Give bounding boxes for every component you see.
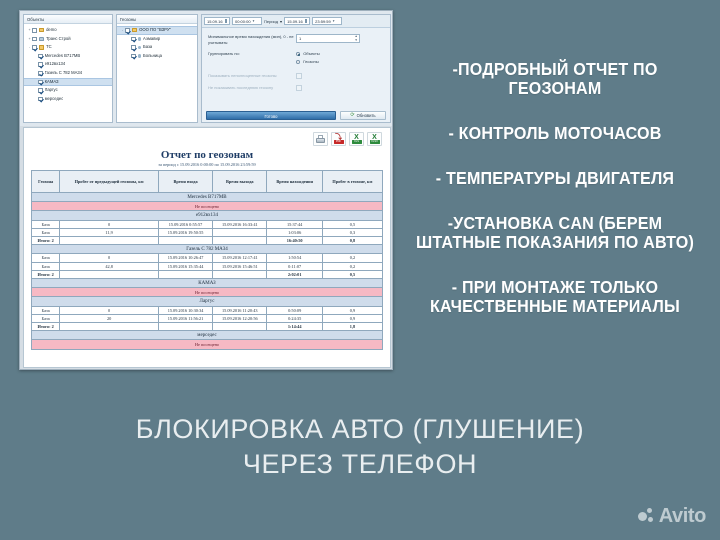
report-cell-3: 15.09.2016 11:20:43: [213, 306, 267, 314]
report-total-cell-0: Итого: 2: [32, 270, 60, 278]
promo-bottom-line-1: БЛОКИРОВКА АВТО (ГЛУШЕНИЕ): [0, 412, 720, 447]
promo-bottom-line-2: ЧЕРЕЗ ТЕЛЕФОН: [0, 447, 720, 482]
report-total-row: Итого: 22:02:010,5: [32, 270, 383, 278]
report-total-cell-4: 2:02:01: [267, 270, 322, 278]
report-cell-1: 0: [60, 220, 159, 228]
checkbox-icon[interactable]: [38, 88, 43, 93]
geozone-node-0[interactable]: -ООО ПО "ВЗРУ": [117, 26, 197, 35]
car-icon: [39, 37, 45, 41]
time-from-value: 00:00:00: [235, 18, 251, 25]
report-cell-4: 0:50:09: [267, 306, 322, 314]
xlsx-tag: XLSX: [370, 140, 380, 144]
selection-area: Объекты +demo+Транс Строй-ТСMercedes В71…: [20, 11, 393, 126]
report-cell-1: 20: [60, 314, 159, 322]
time-from-input[interactable]: 00:00:00 ▾: [232, 17, 262, 25]
checkbox-icon[interactable]: [38, 54, 43, 59]
report-total-cell-4: 16:40:50: [267, 237, 322, 245]
report-cell-0: База: [32, 314, 60, 322]
report-cell-4: 0:24:35: [267, 314, 322, 322]
promo-line-0: -ПОДРОБНЫЙ ОТЧЕТ ПО ГЕОЗОНАМ: [412, 60, 697, 98]
report-cell-1: 0: [60, 306, 159, 314]
report-total-cell-2: [158, 237, 212, 245]
disabled-option-2-checkbox: [296, 85, 302, 91]
report-group-name: Ларгус: [32, 297, 383, 306]
report-total-cell-0: Итого: 2: [32, 323, 60, 331]
report-group-row: мерседес: [32, 331, 383, 340]
object-node-4[interactable]: е912вх134: [24, 60, 112, 69]
table-row: База015.09.2016 10:26:4715.09.2016 12:17…: [32, 254, 383, 262]
report-cell-5: 0,3: [322, 228, 382, 236]
object-node-7[interactable]: Ларгус: [24, 86, 112, 95]
geozones-panel: Геозоны -ООО ПО "ВЗРУ"АэмавирБазаБольниц…: [116, 14, 198, 123]
refresh-button-label: Обновить: [357, 111, 376, 121]
table-row: База2015.09.2016 11:56:2115.09.2016 12:2…: [32, 314, 383, 322]
objects-panel-header: Объекты: [24, 15, 112, 24]
radio-objects-icon[interactable]: [296, 52, 300, 56]
objects-tree[interactable]: +demo+Транс Строй-ТСMercedes В717МВе912в…: [24, 24, 112, 103]
refresh-icon: ⟳: [350, 111, 354, 121]
avito-logo-icon: [638, 508, 655, 525]
report-cell-0: База: [32, 306, 60, 314]
options-button-row: Готово ⟳ Обновить: [202, 111, 390, 121]
report-total-cell-5: 1,8: [322, 323, 382, 331]
table-row: База42,815.09.2016 15:35:4415.09.2016 15…: [32, 262, 383, 270]
min-time-label: Минимальное время нахождения (мин), 0 - …: [208, 34, 296, 45]
report-column-header-2: Время входа: [158, 171, 212, 193]
object-node-label: мерседес: [45, 95, 64, 104]
xls-tag: XLS: [352, 140, 362, 144]
min-time-input[interactable]: 1 ▴▾: [296, 34, 360, 43]
geozones-tree[interactable]: -ООО ПО "ВЗРУ"АэмавирБазаБольница: [117, 24, 197, 60]
report-group-row: Ларгус: [32, 297, 383, 306]
report-cell-2: 15.09.2016 10:26:47: [158, 254, 212, 262]
radio-geozones[interactable]: Геозоны: [296, 59, 320, 64]
report-total-cell-1: [60, 323, 159, 331]
object-node-label: Транс Строй: [46, 35, 71, 44]
report-empty-text: Не посещено: [32, 340, 383, 349]
report-empty-text: Не посещено: [32, 288, 383, 297]
checkbox-icon[interactable]: [131, 45, 136, 50]
calendar-icon[interactable]: [225, 19, 227, 23]
disabled-option-2-label: Не показывать последнюю геозону: [208, 85, 296, 91]
disabled-option-1-row: Показывать неполноценные геозоны: [208, 73, 384, 79]
report-cell-5: 0,9: [322, 306, 382, 314]
disabled-option-2-row: Не показывать последнюю геозону: [208, 85, 384, 91]
min-time-row: Минимальное время нахождения (мин), 0 - …: [208, 34, 384, 45]
checkbox-icon[interactable]: [38, 80, 43, 85]
promo-line-2: - ТЕМПЕРАТУРЫ ДВИГАТЕЛЯ: [412, 169, 697, 188]
geozone-node-2[interactable]: База: [117, 43, 197, 52]
object-node-label: КАМАЗ: [45, 78, 59, 87]
report-options-panel: 15.09.16 00:00:00 ▾ Период ▾ 15.09.16 23…: [201, 14, 391, 123]
date-from-input[interactable]: 15.09.16: [204, 17, 230, 25]
report-cell-0: База: [32, 262, 60, 270]
report-group-name: КАМАЗ: [32, 279, 383, 288]
report-empty-row: Не посещено: [32, 202, 383, 211]
calendar-icon-2[interactable]: [305, 19, 307, 23]
report-cell-1: 0: [60, 254, 159, 262]
execute-report-button[interactable]: Готово: [206, 111, 336, 121]
object-node-label: е912вх134: [45, 60, 66, 69]
report-cell-1: 42,8: [60, 262, 159, 270]
report-group-row: Mercedes В717МВ: [32, 193, 383, 202]
report-table-body: Mercedes В717МВНе посещеное912вх134База0…: [32, 193, 383, 350]
report-cell-4: 0:11:07: [267, 262, 322, 270]
object-node-label: ТС: [46, 43, 52, 52]
report-cell-5: 0,5: [322, 220, 382, 228]
geozone-node-1[interactable]: Аэмавир: [117, 35, 197, 44]
group-by-radios[interactable]: Объекты Геозоны: [296, 51, 320, 67]
report-group-name: мерседес: [32, 331, 383, 340]
xlsx-icon[interactable]: X XLSX: [367, 132, 382, 146]
report-subtitle: за период с 15.09.2016 0:00:00 по 15.09.…: [24, 162, 390, 167]
checkbox-icon[interactable]: [32, 37, 37, 42]
disabled-option-1-checkbox: [296, 73, 302, 79]
time-to-value: 23:59:59: [315, 18, 331, 25]
report-total-cell-2: [158, 270, 212, 278]
object-node-1[interactable]: +Транс Строй: [24, 35, 112, 44]
report-cell-4: 15:37:44: [267, 220, 322, 228]
object-node-label: Газель С 782 МА34: [45, 69, 82, 78]
print-icon[interactable]: [313, 132, 328, 146]
object-node-3[interactable]: Mercedes В717МВ: [24, 52, 112, 61]
checkbox-icon[interactable]: [125, 28, 130, 33]
report-cell-3: [213, 228, 267, 236]
refresh-button[interactable]: ⟳ Обновить: [340, 111, 386, 121]
avito-watermark-label: Avito: [659, 505, 706, 528]
group-by-label: Группировать по:: [208, 51, 296, 57]
table-row: База015.09.2016 10:30:3415.09.2016 11:20…: [32, 306, 383, 314]
report-cell-3: 15.09.2016 12:20:56: [213, 314, 267, 322]
object-node-0[interactable]: +demo: [24, 26, 112, 35]
geozone-node-label: Аэмавир: [143, 35, 160, 44]
radio-objects-label: Объекты: [303, 51, 320, 56]
report-cell-3: 15.09.2016 12:17:41: [213, 254, 267, 262]
date-from-value: 15.09.16: [207, 18, 223, 25]
chevron-down-icon-2[interactable]: ▾: [333, 18, 335, 25]
print-body-shape: [316, 138, 325, 143]
radio-objects[interactable]: Объекты: [296, 51, 320, 56]
report-column-header-4: Время нахождения: [267, 171, 322, 193]
promo-line-1: - КОНТРОЛЬ МОТОЧАСОВ: [412, 124, 697, 143]
folder-icon: [132, 28, 138, 32]
disabled-option-1-label: Показывать неполноценные геозоны: [208, 73, 296, 79]
report-column-header-3: Время выхода: [213, 171, 267, 193]
date-range-toolbar: 15.09.16 00:00:00 ▾ Период ▾ 15.09.16 23…: [202, 15, 390, 28]
report-total-cell-3: [213, 237, 267, 245]
object-node-6[interactable]: КАМАЗ: [24, 78, 112, 87]
report-group-row: Газель С 782 МА34: [32, 245, 383, 254]
object-node-label: Mercedes В717МВ: [45, 52, 81, 61]
report-cell-0: База: [32, 220, 60, 228]
report-cell-4: 1:03:06: [267, 228, 322, 236]
geozone-node-label: База: [143, 43, 152, 52]
xls-icon[interactable]: X XLS: [349, 132, 364, 146]
report-cell-0: База: [32, 228, 60, 236]
report-cell-3: 15.09.2016 15:46:51: [213, 262, 267, 270]
period-label: Период: [264, 19, 278, 24]
checkbox-icon[interactable]: [32, 28, 37, 33]
report-column-header-5: Пробег в геозоне, км: [322, 171, 382, 193]
report-total-cell-5: 0,8: [322, 237, 382, 245]
object-node-label: demo: [46, 26, 56, 35]
table-row: База11,915.09.2016 19:50:551:03:060,3: [32, 228, 383, 236]
table-row: База015.09.2016 0:55:5715.09.2016 16:33:…: [32, 220, 383, 228]
object-node-2[interactable]: -ТС: [24, 43, 112, 52]
checkbox-icon[interactable]: [38, 97, 43, 102]
object-node-label: Ларгус: [45, 86, 58, 95]
report-header-row: ГеозонаПробег от предыдущей геозоны, кмВ…: [32, 171, 383, 193]
chevron-down-icon[interactable]: ▾: [253, 18, 255, 25]
group-by-row: Группировать по: Объекты Геозоны: [208, 51, 384, 67]
object-node-8[interactable]: мерседес: [24, 95, 112, 104]
radio-geozones-label: Геозоны: [303, 59, 318, 64]
report-cell-2: 15.09.2016 15:35:44: [158, 262, 212, 270]
report-total-cell-2: [158, 323, 212, 331]
report-cell-5: 0,2: [322, 254, 382, 262]
options-body: Минимальное время нахождения (мин), 0 - …: [202, 28, 390, 91]
report-empty-row: Не посещено: [32, 340, 383, 349]
checkbox-icon[interactable]: [38, 62, 43, 67]
date-to-value: 15.09.16: [287, 18, 303, 25]
report-group-name: Газель С 782 МА34: [32, 245, 383, 254]
report-total-cell-3: [213, 323, 267, 331]
report-group-name: е912вх134: [32, 211, 383, 220]
report-cell-2: 15.09.2016 0:55:57: [158, 220, 212, 228]
report-total-cell-1: [60, 270, 159, 278]
dot-icon: [138, 46, 141, 49]
report-panel: ⤵ PDF X XLS X XLSX Отчет по геозонам за …: [23, 127, 391, 368]
report-cell-5: 0,9: [322, 314, 382, 322]
report-total-cell-0: Итого: 2: [32, 237, 60, 245]
export-toolbar: ⤵ PDF X XLS X XLSX: [24, 128, 390, 146]
report-table: ГеозонаПробег от предыдущей геозоны, кмВ…: [31, 170, 383, 350]
promo-line-4: - ПРИ МОНТАЖЕ ТОЛЬКО КАЧЕСТВЕННЫЕ МАТЕРИ…: [412, 278, 697, 316]
promo-feature-list: -ПОДРОБНЫЙ ОТЧЕТ ПО ГЕОЗОНАМ- КОНТРОЛЬ М…: [400, 60, 710, 316]
report-table-head: ГеозонаПробег от предыдущей геозоны, кмВ…: [32, 171, 383, 193]
dot-icon: [138, 37, 141, 40]
pdf-icon[interactable]: ⤵ PDF: [331, 132, 346, 146]
date-to-input[interactable]: 15.09.16: [284, 17, 310, 25]
folder-icon: [39, 45, 45, 49]
report-cell-2: 15.09.2016 11:56:21: [158, 314, 212, 322]
report-group-row: КАМАЗ: [32, 279, 383, 288]
geozones-panel-header: Геозоны: [117, 15, 197, 24]
report-title: Отчет по геозонам: [24, 149, 390, 161]
report-cell-2: 15.09.2016 10:30:34: [158, 306, 212, 314]
report-column-header-1: Пробег от предыдущей геозоны, км: [60, 171, 159, 193]
checkbox-icon[interactable]: [32, 45, 37, 50]
app-screenshot: Объекты +demo+Транс Строй-ТСMercedes В71…: [19, 10, 393, 370]
report-cell-2: 15.09.2016 19:50:55: [158, 228, 212, 236]
checkbox-icon[interactable]: [38, 71, 43, 76]
report-total-row: Итого: 21:14:441,8: [32, 323, 383, 331]
pdf-tag: PDF: [334, 140, 344, 144]
folder-icon: [39, 28, 45, 32]
min-time-value: 1: [299, 36, 301, 41]
report-total-cell-4: 1:14:44: [267, 323, 322, 331]
dot-icon: [138, 54, 141, 57]
report-group-row: е912вх134: [32, 211, 383, 220]
report-cell-3: 15.09.2016 16:33:41: [213, 220, 267, 228]
report-empty-row: Не посещено: [32, 288, 383, 297]
spinner-icon[interactable]: ▴▾: [355, 35, 357, 42]
geozone-node-3[interactable]: Больница: [117, 52, 197, 61]
objects-panel: Объекты +demo+Транс Строй-ТСMercedes В71…: [23, 14, 113, 123]
report-cell-1: 11,9: [60, 228, 159, 236]
period-chevron-down-icon[interactable]: ▾: [280, 19, 282, 24]
checkbox-icon[interactable]: [131, 54, 136, 59]
avito-watermark: Avito: [638, 505, 706, 528]
report-column-header-0: Геозона: [32, 171, 60, 193]
report-cell-0: База: [32, 254, 60, 262]
radio-geozones-icon[interactable]: [296, 60, 300, 64]
report-total-cell-5: 0,5: [322, 270, 382, 278]
report-cell-4: 1:50:54: [267, 254, 322, 262]
promo-bottom-copy: БЛОКИРОВКА АВТО (ГЛУШЕНИЕ) ЧЕРЕЗ ТЕЛЕФОН: [0, 412, 720, 482]
checkbox-icon[interactable]: [131, 37, 136, 42]
report-empty-text: Не посещено: [32, 202, 383, 211]
time-to-input[interactable]: 23:59:59 ▾: [312, 17, 342, 25]
report-group-name: Mercedes В717МВ: [32, 193, 383, 202]
geozone-node-label: ООО ПО "ВЗРУ": [139, 26, 171, 35]
object-node-5[interactable]: Газель С 782 МА34: [24, 69, 112, 78]
geozone-node-label: Больница: [143, 52, 162, 61]
report-cell-5: 0,2: [322, 262, 382, 270]
report-total-cell-1: [60, 237, 159, 245]
report-total-cell-3: [213, 270, 267, 278]
report-total-row: Итого: 216:40:500,8: [32, 237, 383, 245]
promo-line-3: -УСТАНОВКА CAN (БЕРЕМ ШТАТНЫЕ ПОКАЗАНИЯ …: [412, 214, 697, 252]
